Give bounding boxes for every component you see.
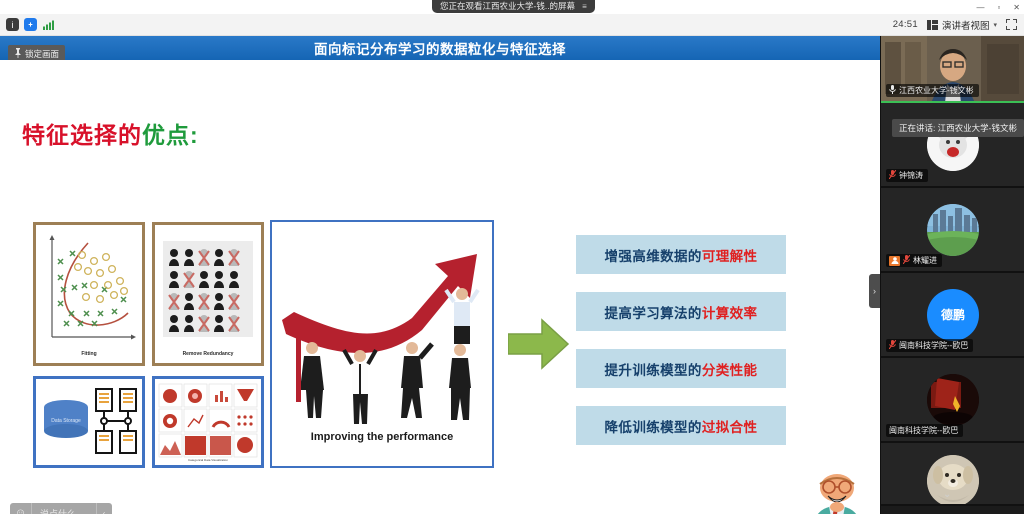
cartoon-writer-illustration <box>798 472 876 514</box>
green-arrow-icon <box>508 316 570 372</box>
fitting-chart-caption: Fitting <box>36 351 142 357</box>
benefit-box: 降低训练模型的过拟合性 <box>576 406 786 445</box>
chat-input[interactable]: 说点什么... <box>32 507 96 514</box>
benefit-prefix: 降低训练模型的 <box>605 416 702 436</box>
svg-text:Categorical Data Visualization: Categorical Data Visualization <box>188 458 228 462</box>
participant-name-chip: 江西农业大学-钱文彬 <box>886 84 979 97</box>
slide-title: 面向标记分布学习的数据粒化与特征选择 <box>314 38 566 58</box>
chevron-down-icon[interactable]: ▾ <box>993 21 997 29</box>
avatar: 德鹏 <box>927 289 979 341</box>
benefit-prefix: 提高学习算法的 <box>605 302 702 322</box>
lock-screen-label: 锁定画面 <box>25 48 59 60</box>
benefit-box: 提高学习算法的计算效率 <box>576 292 786 331</box>
host-badge-icon <box>889 256 900 266</box>
shared-screen-viewport: 面向标记分布学习的数据粒化与特征选择 锁定画面 特征选择的优点: <box>0 36 880 514</box>
improving-performance-image: Improving the performance <box>270 220 494 468</box>
slide-heading: 特征选择的优点: <box>22 116 199 150</box>
microphone-muted-icon <box>903 255 910 266</box>
speaker-view-icon <box>927 20 938 30</box>
os-title-bar: 您正在观看江西农业大学-钱..的屏幕 ≡ — ▫ ✕ <box>0 0 1024 14</box>
emoji-icon[interactable]: ☺ <box>10 503 32 514</box>
avatar-initials: 德鹏 <box>941 306 965 323</box>
participant-tile[interactable]: 钟锦涛 <box>881 103 1024 188</box>
benefit-prefix: 增强高维数据的 <box>605 245 702 265</box>
microphone-on-icon <box>889 85 896 96</box>
participant-tile[interactable]: 闽南科技学院--欧巴 <box>881 358 1024 443</box>
info-icon[interactable]: i <box>6 18 19 31</box>
fitting-chart-image: Fitting <box>33 222 145 366</box>
participant-tile[interactable]: 江西农业大学-钱文彬 <box>881 36 1024 103</box>
view-mode-label: 演讲者视图 <box>942 18 990 32</box>
participant-name-chip: 林耀进 <box>886 254 942 267</box>
benefit-emphasis: 可理解性 <box>702 245 758 265</box>
speaking-tooltip: 正在讲话: 江西农业大学-钱文彬 <box>892 119 1024 137</box>
view-mode-button[interactable]: 演讲者视图 ▾ <box>927 18 997 32</box>
toolbar-right-controls: 24:51 演讲者视图 ▾ <box>893 18 1024 32</box>
benefit-emphasis: 过拟合性 <box>702 416 758 436</box>
benefit-prefix: 提升训练模型的 <box>605 359 702 379</box>
slide-title-bar: 面向标记分布学习的数据粒化与特征选择 <box>0 36 880 60</box>
window-controls: — ▫ ✕ <box>976 0 1020 14</box>
avatar <box>927 204 979 256</box>
participant-name-chip: 闽南科技学院--欧巴 <box>886 339 973 352</box>
benefit-box: 增强高维数据的可理解性 <box>576 235 786 274</box>
screen-share-chat-bar[interactable]: ☺ 说点什么... ‹ <box>10 503 112 514</box>
chevron-down-icon[interactable]: ⌄ <box>943 489 951 500</box>
benefit-emphasis: 计算效率 <box>702 302 758 322</box>
minimize-button[interactable]: — <box>976 3 984 12</box>
benefit-emphasis: 分类性能 <box>702 359 758 379</box>
zoom-top-toolbar: i 24:51 演讲者视图 ▾ <box>0 14 1024 36</box>
zoom-meeting-window: 您正在观看江西农业大学-钱..的屏幕 ≡ — ▫ ✕ i <box>0 0 1024 514</box>
participant-name: 江西农业大学-钱文彬 <box>899 85 974 96</box>
avatar <box>927 374 979 426</box>
share-notice-menu-icon[interactable]: ≡ <box>582 0 587 13</box>
participants-rail: › 江西农业大学-钱文彬 <box>880 36 1024 514</box>
data-storage-diagram-image: Data Storage <box>33 376 145 468</box>
pin-icon <box>14 48 22 60</box>
svg-text:Data Storage: Data Storage <box>51 418 81 424</box>
toolbar-status-icons: i <box>0 18 55 31</box>
security-shield-icon[interactable] <box>24 18 37 31</box>
participant-tile[interactable]: 林耀进 <box>881 188 1024 273</box>
microphone-muted-icon <box>889 170 896 181</box>
close-button[interactable]: ✕ <box>1013 3 1020 12</box>
heading-green-part: 优点: <box>142 122 199 148</box>
fullscreen-icon[interactable] <box>1006 19 1017 30</box>
remove-redundancy-image: Remove Redundancy <box>152 222 264 366</box>
benefit-box-list: 增强高维数据的可理解性 提高学习算法的计算效率 提升训练模型的分类性能 降低训练… <box>576 235 786 463</box>
participant-name: 闽南科技学院--欧巴 <box>889 425 958 436</box>
meeting-timer: 24:51 <box>893 19 918 30</box>
avatar <box>927 455 979 507</box>
microphone-muted-icon <box>889 340 896 351</box>
participant-name-chip: 钟锦涛 <box>886 169 928 182</box>
network-signal-icon[interactable] <box>42 18 55 31</box>
remove-redundancy-caption: Remove Redundancy <box>155 351 261 357</box>
benefit-box: 提升训练模型的分类性能 <box>576 349 786 388</box>
screen-share-notice-bar[interactable]: 您正在观看江西农业大学-钱..的屏幕 ≡ <box>432 0 595 13</box>
chat-collapse-icon[interactable]: ‹ <box>96 503 112 514</box>
participant-name: 钟锦涛 <box>899 170 923 181</box>
participant-name: 林耀进 <box>913 255 937 266</box>
categorical-data-visualization-image: Categorical Data Visualization <box>152 376 264 468</box>
heading-red-part: 特征选择的 <box>22 122 142 148</box>
svg-text:Improving the performance: Improving the performance <box>311 431 453 443</box>
participant-name-chip: 闽南科技学院--欧巴 <box>886 424 963 437</box>
participant-tile[interactable]: 德鹏 闽南科技学院--欧巴 <box>881 273 1024 358</box>
maximize-button[interactable]: ▫ <box>997 3 1000 12</box>
slide-content: 特征选择的优点: <box>0 60 880 514</box>
participant-name: 闽南科技学院--欧巴 <box>899 340 968 351</box>
collapse-rail-button[interactable]: › <box>869 274 880 308</box>
share-notice-text: 您正在观看江西农业大学-钱..的屏幕 <box>440 0 575 13</box>
participant-tile[interactable]: ⌄ <box>881 443 1024 506</box>
